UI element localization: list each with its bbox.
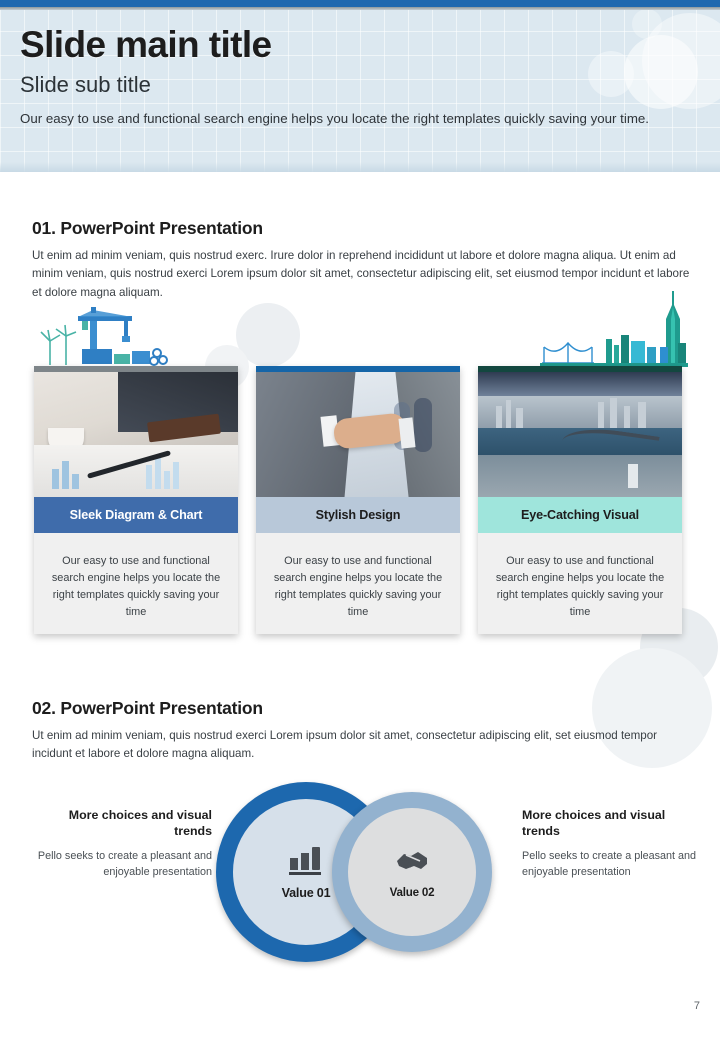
page-subtitle: Slide sub title <box>20 73 720 97</box>
section-02: 02. PowerPoint Presentation Ut enim ad m… <box>32 698 690 764</box>
section-01-title: 01. PowerPoint Presentation <box>32 218 690 239</box>
venn-right-body: Pello seeks to create a pleasant and enj… <box>522 848 702 880</box>
venn-left-heading: More choices and visual trends <box>32 808 212 840</box>
bar-chart-icon <box>289 845 323 880</box>
venn-circle-value-02[interactable]: Value 02 <box>332 792 492 952</box>
page-description: Our easy to use and functional search en… <box>20 109 682 130</box>
card-title: Stylish Design <box>316 508 401 522</box>
card-title-band: Eye-Catching Visual <box>478 497 682 533</box>
venn-circle-label: Value 02 <box>390 886 435 899</box>
section-02-body: Ut enim ad minim veniam, quis nostrud ex… <box>32 727 690 764</box>
card-body-text: Our easy to use and functional search en… <box>256 533 460 621</box>
card-image-aerial-city <box>478 372 682 497</box>
construction-crane-illustration <box>36 305 168 372</box>
venn-left-text-block: More choices and visual trends Pello see… <box>32 808 212 880</box>
handshake-icon <box>394 845 430 880</box>
card-title: Sleek Diagram & Chart <box>70 508 203 522</box>
card-image-business-desk <box>34 372 238 497</box>
feature-card[interactable]: Eye-Catching Visual Our easy to use and … <box>478 366 682 634</box>
page-title: Slide main title <box>20 25 720 64</box>
venn-diagram: More choices and visual trends Pello see… <box>0 782 720 962</box>
card-body-text: Our easy to use and functional search en… <box>34 533 238 621</box>
section-02-title: 02. PowerPoint Presentation <box>32 698 690 719</box>
top-accent-bar <box>0 0 720 7</box>
card-image-handshake <box>256 372 460 497</box>
card-body-text: Our easy to use and functional search en… <box>478 533 682 621</box>
slide-header: Slide main title Slide sub title Our eas… <box>0 7 720 172</box>
venn-circle-label: Value 01 <box>282 886 331 900</box>
feature-card[interactable]: Sleek Diagram & Chart Our easy to use an… <box>34 366 238 634</box>
page-number: 7 <box>694 1000 700 1012</box>
section-01-body: Ut enim ad minim veniam, quis nostrud ex… <box>32 247 690 302</box>
feature-card-list: Sleek Diagram & Chart Our easy to use an… <box>34 366 690 636</box>
top-bar-shadow <box>0 7 720 10</box>
card-title-band: Sleek Diagram & Chart <box>34 497 238 533</box>
card-title: Eye-Catching Visual <box>521 508 639 522</box>
venn-right-text-block: More choices and visual trends Pello see… <box>522 808 702 880</box>
feature-card[interactable]: Stylish Design Our easy to use and funct… <box>256 366 460 634</box>
card-title-band: Stylish Design <box>256 497 460 533</box>
venn-right-heading: More choices and visual trends <box>522 808 702 840</box>
venn-left-body: Pello seeks to create a pleasant and enj… <box>32 848 212 880</box>
section-01: 01. PowerPoint Presentation Ut enim ad m… <box>32 218 690 302</box>
